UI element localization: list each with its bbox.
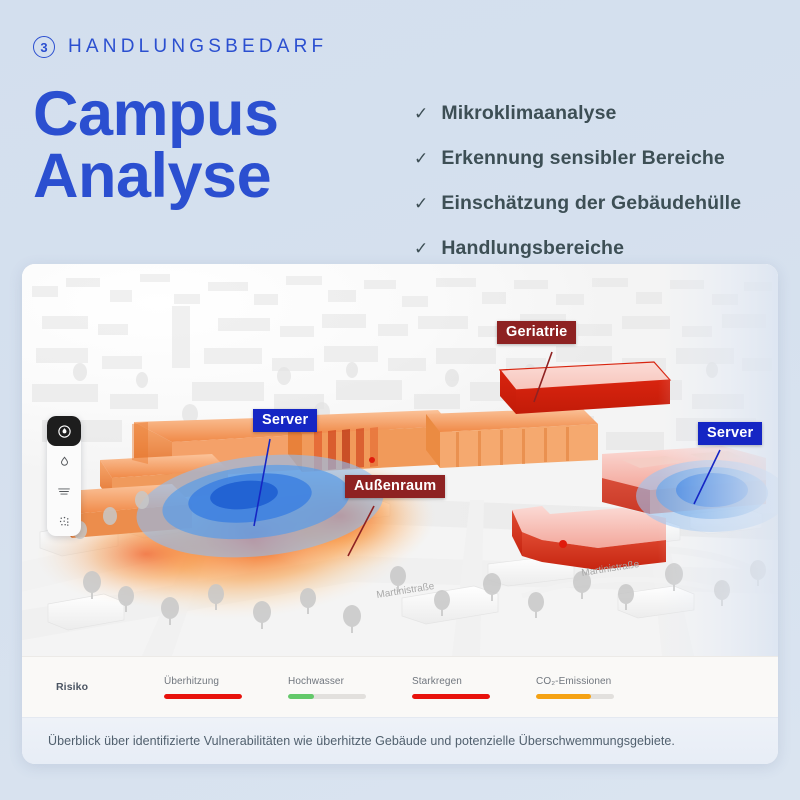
legend-items: Überhitzung Hochwasser Starkregen CO₂-Em… bbox=[164, 676, 778, 699]
check-icon: ✓ bbox=[414, 239, 428, 259]
legend-bar-fill bbox=[164, 694, 242, 699]
legend-bar-fill bbox=[536, 694, 591, 699]
map-label-aussenraum[interactable]: Außenraum bbox=[345, 475, 445, 498]
list-item: ✓ Einschätzung der Gebäudehülle bbox=[414, 192, 784, 215]
list-item: ✓ Mikroklimaanalyse bbox=[414, 102, 784, 125]
legend-item-starkregen: Starkregen bbox=[412, 676, 536, 699]
risk-legend: Risiko Überhitzung Hochwasser Starkregen bbox=[22, 656, 778, 717]
section-eyebrow: 3 HANDLUNGSBEDARF bbox=[33, 36, 327, 58]
map-label-server-right[interactable]: Server bbox=[698, 422, 762, 445]
heat-icon[interactable] bbox=[47, 416, 81, 446]
legend-item-label: CO₂-Emissionen bbox=[536, 676, 660, 687]
legend-bar-track bbox=[412, 694, 490, 699]
map-card: Martinistraße Martinistraße bbox=[22, 264, 778, 764]
water-drop-icon[interactable] bbox=[47, 446, 81, 476]
step-number-badge: 3 bbox=[33, 36, 55, 58]
map-label-geriatrie[interactable]: Geriatrie bbox=[497, 321, 576, 344]
particles-icon[interactable] bbox=[47, 506, 81, 536]
list-item-label: Erkennung sensibler Bereiche bbox=[441, 147, 724, 170]
list-item: ✓ Handlungsbereiche bbox=[414, 237, 784, 260]
check-icon: ✓ bbox=[414, 194, 428, 214]
map-layer-toolbar[interactable] bbox=[47, 416, 81, 536]
legend-bar-fill bbox=[288, 694, 314, 699]
legend-bar-track bbox=[536, 694, 614, 699]
legend-item-label: Hochwasser bbox=[288, 676, 412, 687]
legend-item-hochwasser: Hochwasser bbox=[288, 676, 412, 699]
check-icon: ✓ bbox=[414, 104, 428, 124]
legend-item-ueberhitzung: Überhitzung bbox=[164, 676, 288, 699]
legend-item-label: Starkregen bbox=[412, 676, 536, 687]
legend-item-label: Überhitzung bbox=[164, 676, 288, 687]
legend-bar-track bbox=[288, 694, 366, 699]
page-title: Campus Analyse bbox=[33, 84, 279, 207]
label-leader-lines bbox=[22, 264, 778, 656]
list-item-label: Handlungsbereiche bbox=[441, 237, 624, 260]
check-icon: ✓ bbox=[414, 149, 428, 169]
waves-icon[interactable] bbox=[47, 476, 81, 506]
legend-item-co2: CO₂-Emissionen bbox=[536, 676, 660, 699]
page-title-line-2: Analyse bbox=[33, 146, 279, 208]
list-item-label: Einschätzung der Gebäudehülle bbox=[441, 192, 741, 215]
map-caption: Überblick über identifizierte Vulnerabil… bbox=[22, 717, 778, 764]
legend-bar-fill bbox=[412, 694, 490, 699]
list-item-label: Mikroklimaanalyse bbox=[441, 102, 616, 125]
list-item: ✓ Erkennung sensibler Bereiche bbox=[414, 147, 784, 170]
legend-title: Risiko bbox=[56, 681, 164, 693]
feature-checklist: ✓ Mikroklimaanalyse ✓ Erkennung sensible… bbox=[414, 102, 784, 282]
legend-bar-track bbox=[164, 694, 242, 699]
map-caption-text: Überblick über identifizierte Vulnerabil… bbox=[48, 734, 675, 748]
eyebrow-label: HANDLUNGSBEDARF bbox=[68, 36, 327, 58]
map-label-server-left[interactable]: Server bbox=[253, 409, 317, 432]
page-title-line-1: Campus bbox=[33, 84, 279, 146]
